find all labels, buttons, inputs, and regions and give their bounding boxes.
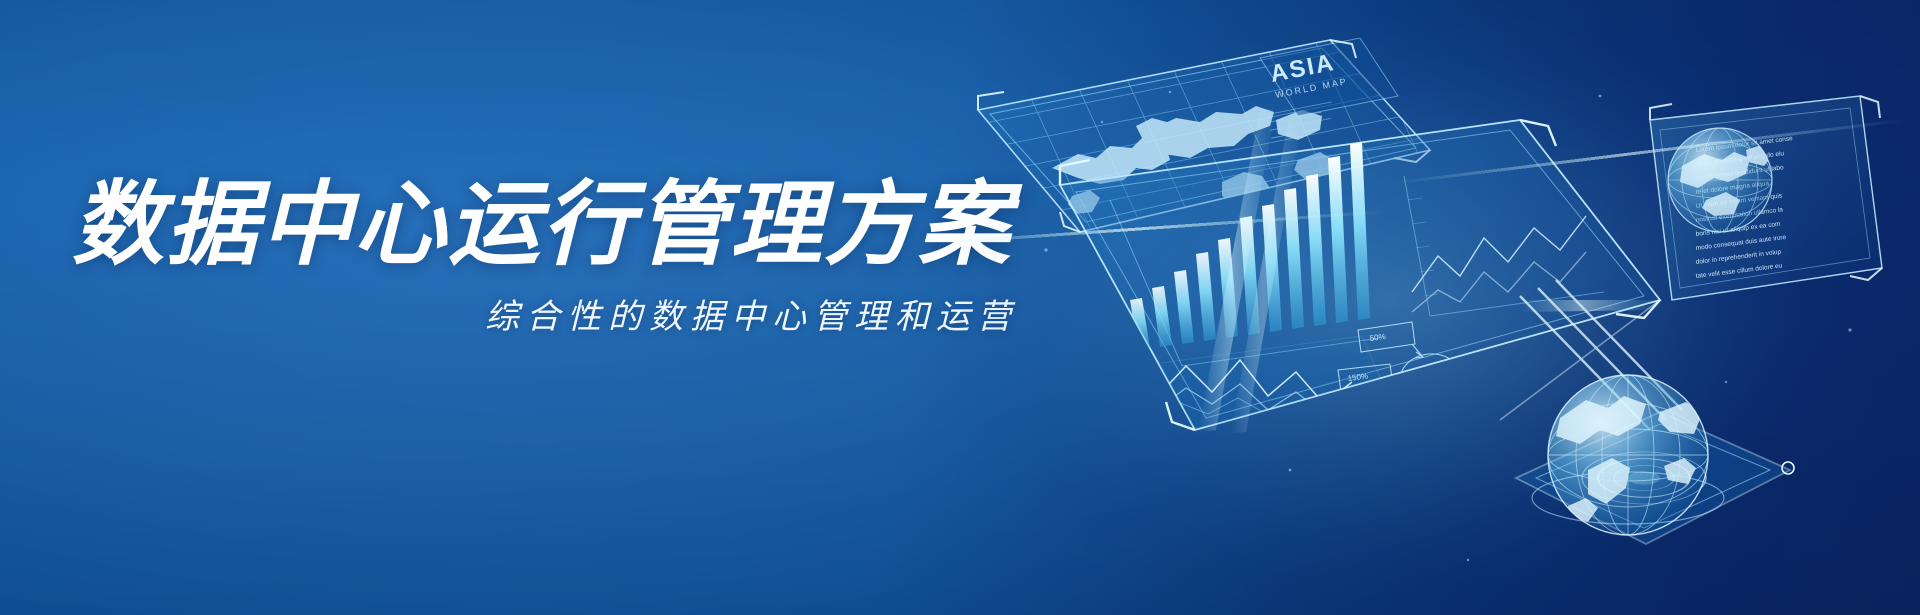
hero-copy: 数据中心运行管理方案 综合性的数据中心管理和运营 (72, 176, 1032, 338)
page-title: 数据中心运行管理方案 (72, 176, 1032, 275)
hologram-illustration: ASIA WORLD MAP (960, 0, 1920, 615)
page-subtitle: 综合性的数据中心管理和运营 (72, 297, 1032, 338)
hero-banner: 数据中心运行管理方案 综合性的数据中心管理和运营 (0, 0, 1920, 615)
